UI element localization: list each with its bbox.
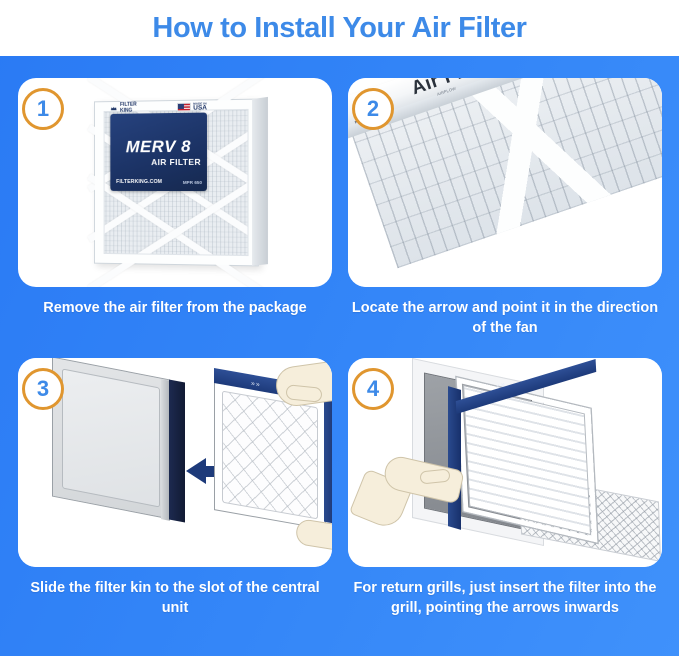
filter-depth-side (252, 97, 268, 266)
usa-text: MADE IN USA (193, 102, 207, 112)
air-filter-product-photo: FILTER KING MADE IN USA MERV 8 AIR FILTE… (94, 99, 259, 267)
step-badge-4: 4 (352, 368, 394, 410)
step-caption-4: For return grills, just insert the filte… (348, 578, 662, 618)
filter-arrow-glyphs: »» (251, 380, 261, 389)
step-caption-2: Locate the arrow and point it in the dir… (348, 298, 662, 338)
infographic-root: How to Install Your Air Filter FILTER KI… (0, 0, 679, 656)
step-number-1: 1 (37, 98, 49, 120)
brand-name: FILTER KING (120, 103, 137, 114)
mpr-rating: MPR 650 (183, 180, 202, 185)
step-card-2: AIR FLOW Air Filter AIRFLOW (348, 78, 662, 287)
filter-corner-photo: AIR FLOW Air Filter AIRFLOW (348, 78, 662, 287)
step-number-2: 2 (367, 98, 379, 120)
step-number-4: 4 (367, 378, 379, 400)
central-unit-side-dark (169, 379, 185, 522)
country-label: USA (193, 104, 207, 111)
step-number-3: 3 (37, 378, 49, 400)
central-unit-slot (62, 368, 160, 507)
filter-illustration-mesh (222, 391, 318, 520)
merv-label: MERV 8 AIR FILTER FILTERKING.COM MPR 650 (110, 113, 207, 192)
filter-brand-header: FILTER KING MADE IN USA (110, 101, 207, 113)
page-title: How to Install Your Air Filter (152, 12, 526, 45)
step-caption-1: Remove the air filter from the package (18, 298, 332, 318)
brand-line-2: KING (120, 108, 137, 113)
hand-lower (294, 518, 332, 552)
step-badge-2: 2 (352, 88, 394, 130)
direction-arrow-head (186, 458, 206, 484)
step-1-image: FILTER KING MADE IN USA MERV 8 AIR FILTE… (18, 78, 332, 287)
step-card-4: »» (348, 358, 662, 567)
usa-flag-icon (177, 103, 191, 112)
step-card-1: FILTER KING MADE IN USA MERV 8 AIR FILTE… (18, 78, 332, 287)
step-caption-3: Slide the filter kin to the slot of the … (18, 578, 332, 618)
made-in-usa-badge: MADE IN USA (177, 102, 207, 112)
step-badge-1: 1 (22, 88, 64, 130)
step-4-image: »» (348, 358, 662, 567)
title-bar: How to Install Your Air Filter (0, 0, 679, 56)
step-2-image: AIR FLOW Air Filter AIRFLOW (348, 78, 662, 287)
crown-icon (110, 105, 117, 112)
filter-illustration-side (324, 391, 332, 525)
label-subtitle: AIR FILTER (110, 157, 201, 167)
brand-website: FILTERKING.COM (116, 179, 162, 185)
step-card-3: »» (18, 358, 332, 567)
step-badge-3: 3 (22, 368, 64, 410)
step-3-image: »» (18, 358, 332, 567)
merv-rating: MERV 8 (110, 137, 207, 158)
